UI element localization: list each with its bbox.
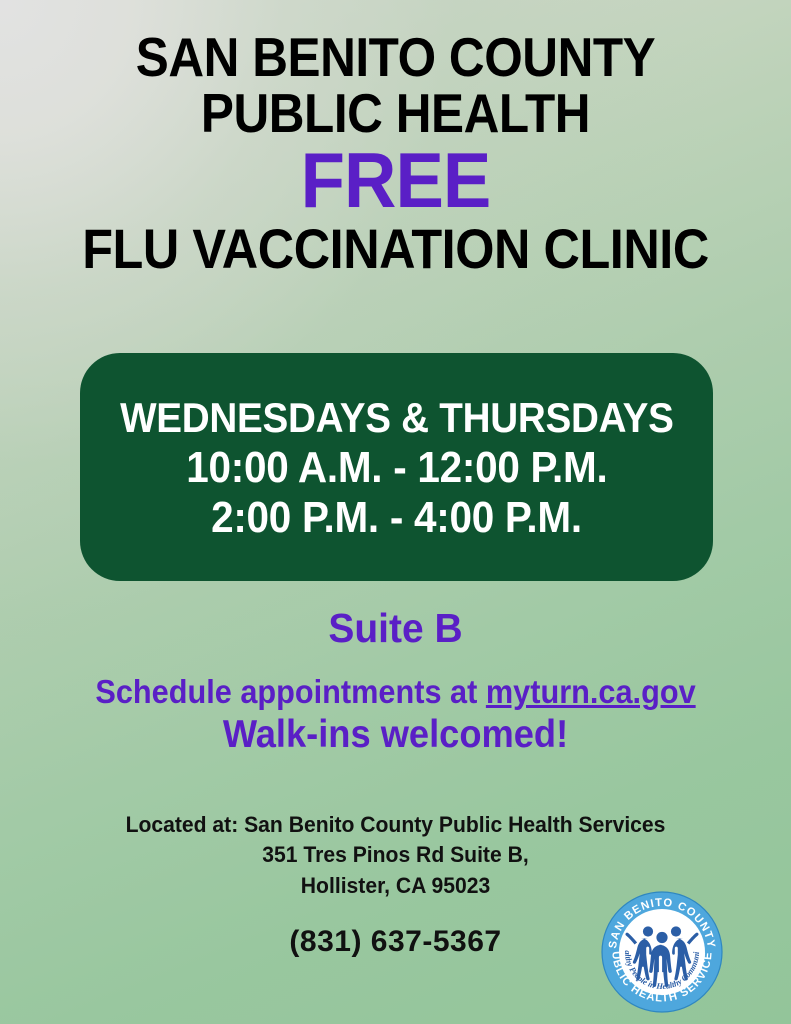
hours-panel: WEDNESDAYS & THURSDAYS 10:00 A.M. - 12:0…	[80, 353, 713, 581]
heading-block: SAN BENITO COUNTY PUBLIC HEALTH FREE FLU…	[0, 32, 791, 275]
suite-label: Suite B	[20, 608, 771, 649]
details-block: Suite B Schedule appointments at myturn.…	[0, 608, 791, 756]
schedule-prefix-text: Schedule appointments at	[95, 673, 486, 710]
san-benito-county-public-health-seal-icon: SAN BENITO COUNTY PUBLIC HEALTH SERVICES…	[600, 890, 724, 1014]
hours-afternoon: 2:00 P.M. - 4:00 P.M.	[211, 494, 582, 541]
address-line-1: Located at: San Benito County Public Hea…	[16, 810, 775, 840]
hours-days: WEDNESDAYS & THURSDAYS	[120, 396, 674, 441]
walkins-note: Walk-ins welcomed!	[28, 715, 764, 756]
flyer-canvas: SAN BENITO COUNTY PUBLIC HEALTH FREE FLU…	[0, 0, 791, 1024]
heading-line-3: FLU VACCINATION CLINIC	[61, 223, 730, 275]
address-block: Located at: San Benito County Public Hea…	[0, 810, 791, 901]
heading-line-2: PUBLIC HEALTH	[61, 88, 730, 139]
heading-line-1: SAN BENITO COUNTY	[61, 32, 730, 83]
hours-morning: 10:00 A.M. - 12:00 P.M.	[186, 444, 607, 491]
heading-free-emphasis: FREE	[50, 143, 741, 217]
address-line-2: 351 Tres Pinos Rd Suite B,	[16, 840, 775, 870]
schedule-line: Schedule appointments at myturn.ca.gov	[28, 675, 764, 710]
myturn-link[interactable]: myturn.ca.gov	[486, 673, 696, 710]
